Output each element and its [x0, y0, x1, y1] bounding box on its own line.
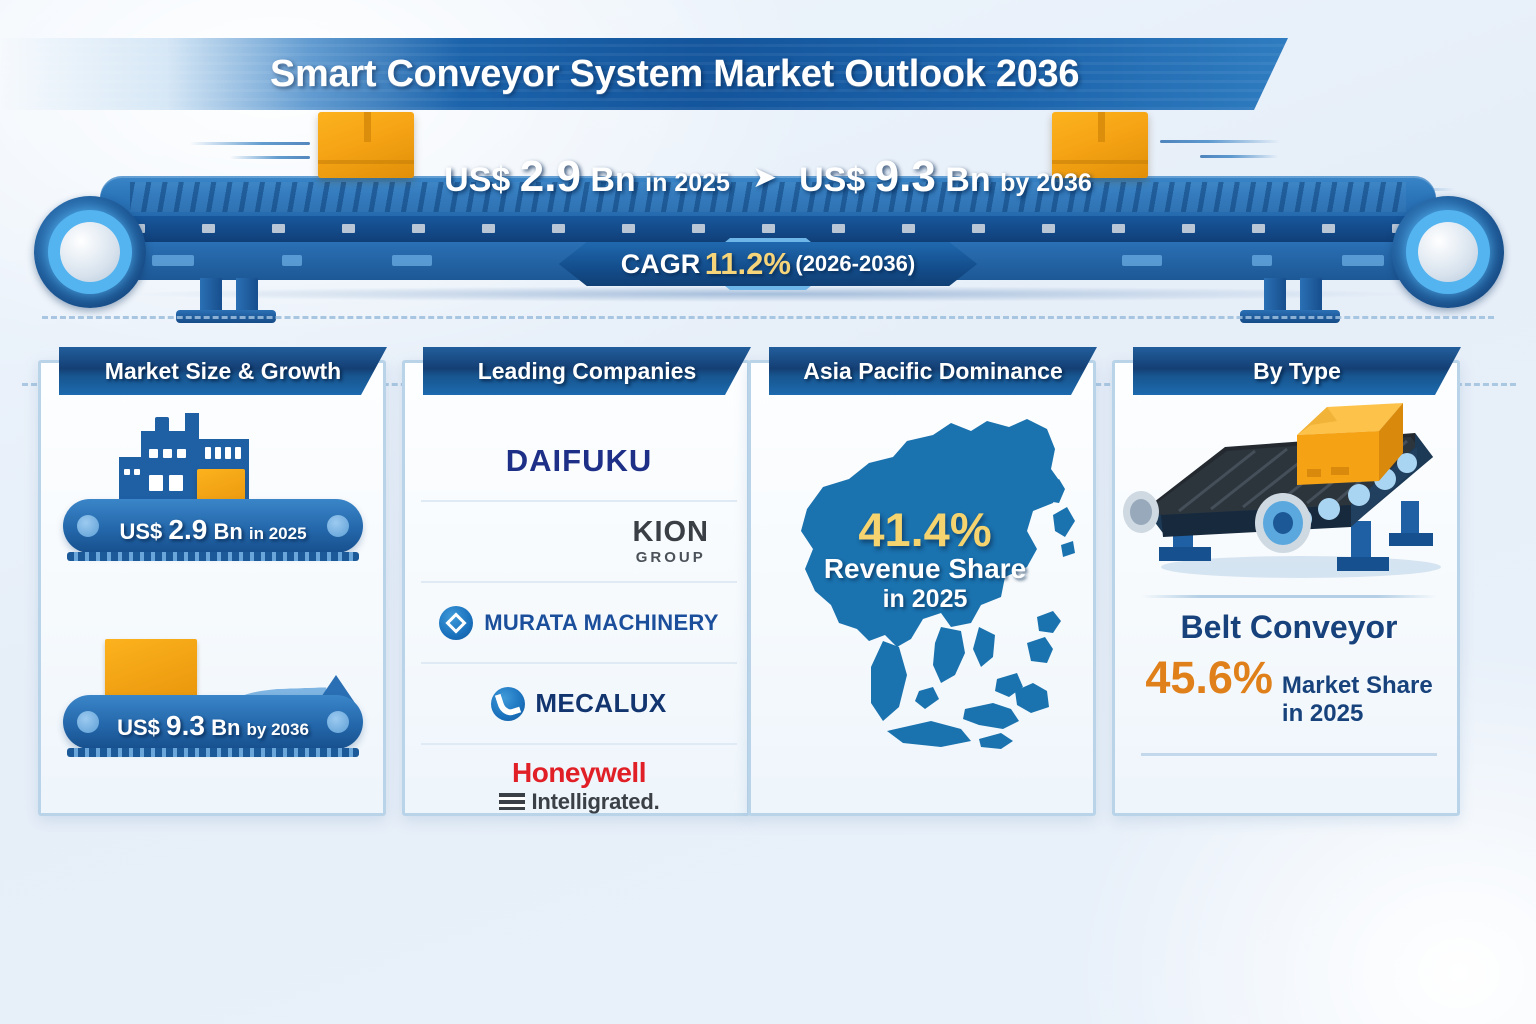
logo-text: MECALUX: [535, 688, 666, 719]
card-title: Market Size & Growth: [105, 358, 341, 385]
asia-pacific-stat: 41.4% Revenue Share in 2025: [824, 506, 1026, 614]
conveyor-pulley-right: [1392, 196, 1504, 308]
card-title: Leading Companies: [478, 358, 697, 385]
market-share-label: Market Share: [1282, 672, 1433, 699]
revenue-share-percent: 41.4%: [824, 506, 1026, 553]
market-value-2036: US$ 9.3 Bn by 2036: [799, 152, 1092, 202]
cards-row: Market Size & Growth: [0, 344, 1536, 814]
card-header-leading-companies: Leading Companies: [423, 347, 751, 395]
card-bottom-rule: [1141, 753, 1437, 756]
conveyor-bar-2025: US$ 2.9 Bn in 2025: [63, 499, 363, 553]
belt-conveyor-illustration: [1115, 381, 1463, 591]
revenue-share-label: Revenue Share: [824, 553, 1026, 585]
logo-subtext: Intelligrated.: [532, 790, 660, 813]
card-header-asia-pacific: Asia Pacific Dominance: [769, 347, 1097, 395]
company-logo-mecalux[interactable]: MECALUX: [421, 664, 737, 745]
company-logo-daifuku[interactable]: DAIFUKU: [421, 421, 737, 502]
card-header-market-size: Market Size & Growth: [59, 347, 387, 395]
card-by-type[interactable]: By Type: [1112, 360, 1460, 816]
asia-map-block: 41.4% Revenue Share in 2025: [751, 363, 1099, 819]
arrow-right-icon: ➤: [752, 160, 777, 195]
honeywell-bars-icon: [499, 793, 525, 810]
revenue-share-year: in 2025: [824, 585, 1026, 614]
mecalux-swoosh-icon: [491, 687, 525, 721]
stat-label-2025: US$ 2.9 Bn in 2025: [63, 514, 363, 546]
market-share-percent: 45.6%: [1145, 652, 1273, 704]
speed-line: [1160, 140, 1280, 143]
conveyor-rail: [67, 552, 359, 561]
company-logo-murata[interactable]: MURATA MACHINERY: [421, 583, 737, 664]
infographic-root: Smart Conveyor System Market Outlook 203…: [0, 0, 1536, 1024]
market-value-2025: US$ 2.9 Bn in 2025: [444, 152, 730, 202]
cagr-badge: CAGR 11.2% (2026-2036): [559, 242, 977, 286]
conveyor-pulley-left: [34, 196, 146, 308]
hero-conveyor-illustration: US$ 2.9 Bn in 2025 ➤ US$ 9.3 Bn by 2036 …: [0, 118, 1536, 318]
divider-dashed-top: [42, 316, 1494, 319]
stat-block-2025: US$ 2.9 Bn in 2025: [53, 415, 373, 565]
conveyor-type-name: Belt Conveyor: [1115, 609, 1463, 646]
package-box-icon: [105, 639, 197, 701]
card-header-by-type: By Type: [1133, 347, 1461, 395]
market-share-year: in 2025: [1282, 700, 1363, 727]
cagr-label: CAGR: [621, 249, 701, 280]
logo-text: Honeywell: [512, 758, 646, 787]
page-title: Smart Conveyor System Market Outlook 203…: [270, 53, 1079, 96]
card-divider: [1141, 595, 1437, 598]
conveyor-leg: [236, 278, 258, 314]
by-type-stat: Belt Conveyor 45.6% Market Share in 2025: [1115, 609, 1463, 727]
stat-label-2036: US$ 9.3 Bn by 2036: [63, 710, 363, 742]
card-title: Asia Pacific Dominance: [803, 358, 1063, 385]
card-title: By Type: [1253, 358, 1341, 385]
stat-block-2036: US$ 9.3 Bn by 2036: [53, 611, 373, 761]
speed-line: [190, 142, 310, 145]
logo-text: DAIFUKU: [506, 443, 653, 479]
logo-subtext: GROUP: [636, 550, 706, 565]
company-logo-honeywell[interactable]: Honeywell Intelligrated.: [421, 745, 737, 826]
card-market-size-growth[interactable]: Market Size & Growth: [38, 360, 386, 816]
conveyor-rail: [67, 748, 359, 757]
hero-statistics: US$ 2.9 Bn in 2025 ➤ US$ 9.3 Bn by 2036: [0, 152, 1536, 202]
conveyor-bar-2036: US$ 9.3 Bn by 2036: [63, 695, 363, 749]
company-logo-kion[interactable]: KION GROUP: [421, 502, 737, 583]
conveyor-leg: [1300, 278, 1322, 314]
cagr-period: (2026-2036): [795, 251, 915, 277]
title-banner: Smart Conveyor System Market Outlook 203…: [0, 38, 1288, 110]
cagr-value: 11.2%: [705, 246, 791, 282]
logo-text: MURATA MACHINERY: [484, 610, 719, 636]
card-asia-pacific-dominance[interactable]: Asia Pacific Dominance: [748, 360, 1096, 816]
card-leading-companies[interactable]: Leading Companies DAIFUKU KION GROUP MUR…: [402, 360, 750, 816]
conveyor-leg: [200, 278, 222, 314]
murata-diamond-icon: [439, 606, 473, 640]
conveyor-leg: [1264, 278, 1286, 314]
logo-text: KION: [633, 518, 710, 547]
factory-icon: [119, 413, 269, 509]
